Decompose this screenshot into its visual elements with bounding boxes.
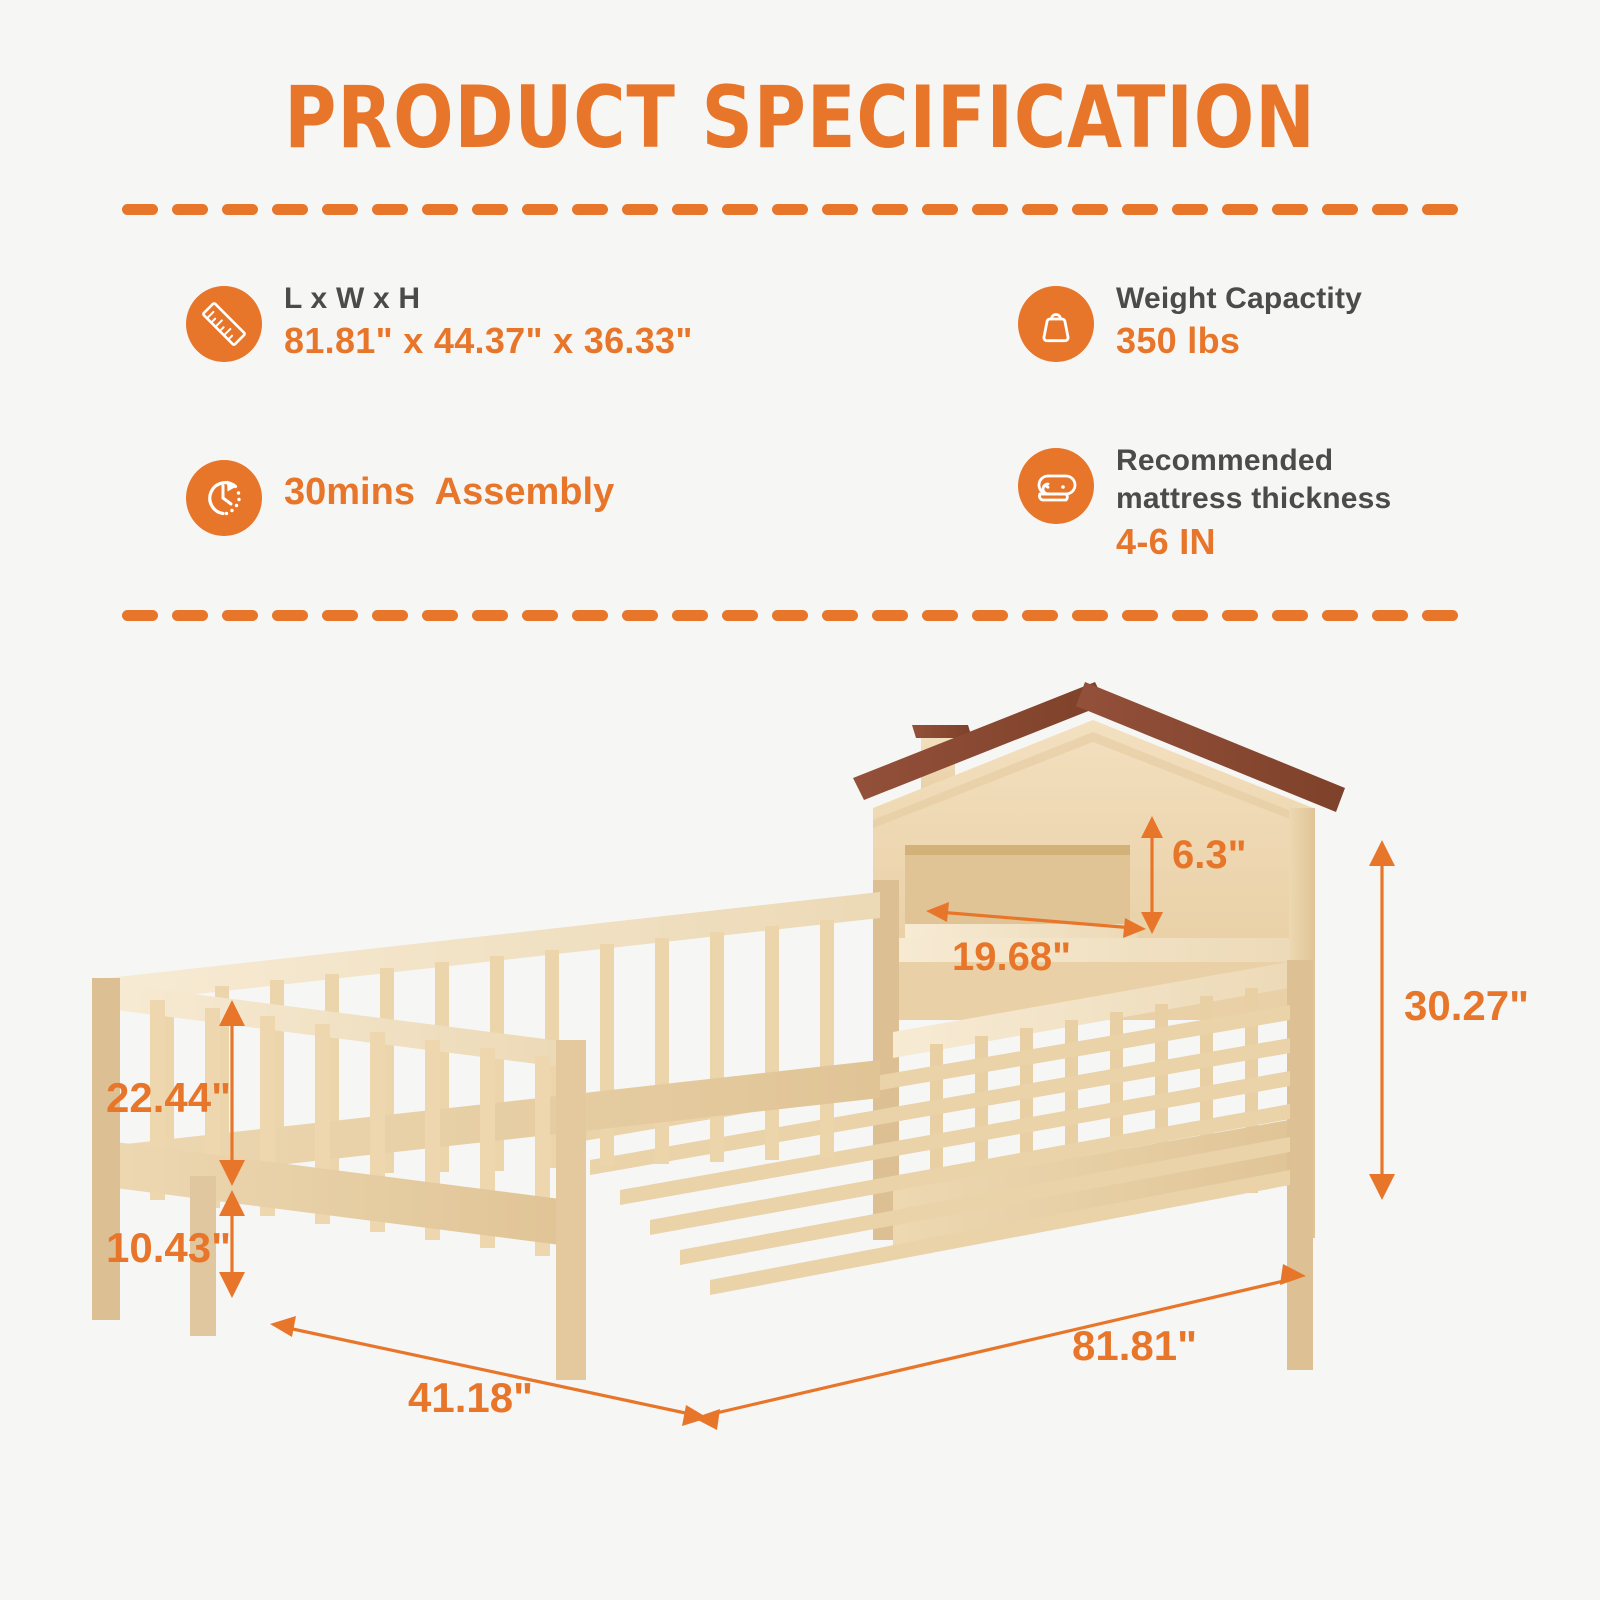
divider-bottom [122,610,1478,621]
clock-icon [186,460,262,536]
ruler-icon [186,286,262,362]
spec-weight-capacity-label: Weight Capactity [1116,280,1362,318]
product-illustration: 6.3" 19.68" 30.27" 22.44" 10.43" 41.18" … [0,660,1600,1520]
spec-dimensions-value: 81.81" x 44.37" x 36.33" [284,318,693,365]
mattress-roll-icon [1018,448,1094,524]
dim-leg-height: 10.43" [106,1224,231,1271]
dim-shelf-height: 6.3" [1172,833,1247,877]
spec-dimensions-label: L x W x H [284,280,693,318]
dim-shelf-width: 19.68" [952,935,1071,979]
headboard-mid-rail [873,938,1313,962]
spec-mattress-thickness-value: 4-6 IN [1116,519,1391,566]
divider-top [122,204,1478,215]
dim-bed-length: 81.81" [1072,1322,1197,1369]
spec-mattress-thickness: Recommended mattress thickness 4-6 IN [1018,442,1391,566]
spec-grid: L x W x H 81.81" x 44.37" x 36.33" Weigh… [0,262,1600,602]
spec-assembly-time: 30mins Assembly [186,454,614,536]
page-title: PRODUCT SPECIFICATION [64,68,1536,168]
spec-mattress-thickness-label-1: Recommended [1116,442,1391,480]
weight-icon [1018,286,1094,362]
spec-weight-capacity-value: 350 lbs [1116,318,1362,365]
spec-mattress-thickness-label-2: mattress thickness [1116,480,1391,518]
leg-front-right [556,1220,586,1380]
shelf-cubby-top [905,845,1130,855]
dim-overall-height: 30.27" [1404,982,1529,1029]
dim-rail-height: 22.44" [106,1074,231,1121]
spec-assembly-time-value: 30mins Assembly [284,470,614,516]
spec-weight-capacity: Weight Capactity 350 lbs [1018,280,1362,365]
product-specification-page: PRODUCT SPECIFICATION [0,0,1600,1600]
spec-dimensions: L x W x H 81.81" x 44.37" x 36.33" [186,280,693,365]
dim-bed-width: 41.18" [408,1374,533,1421]
